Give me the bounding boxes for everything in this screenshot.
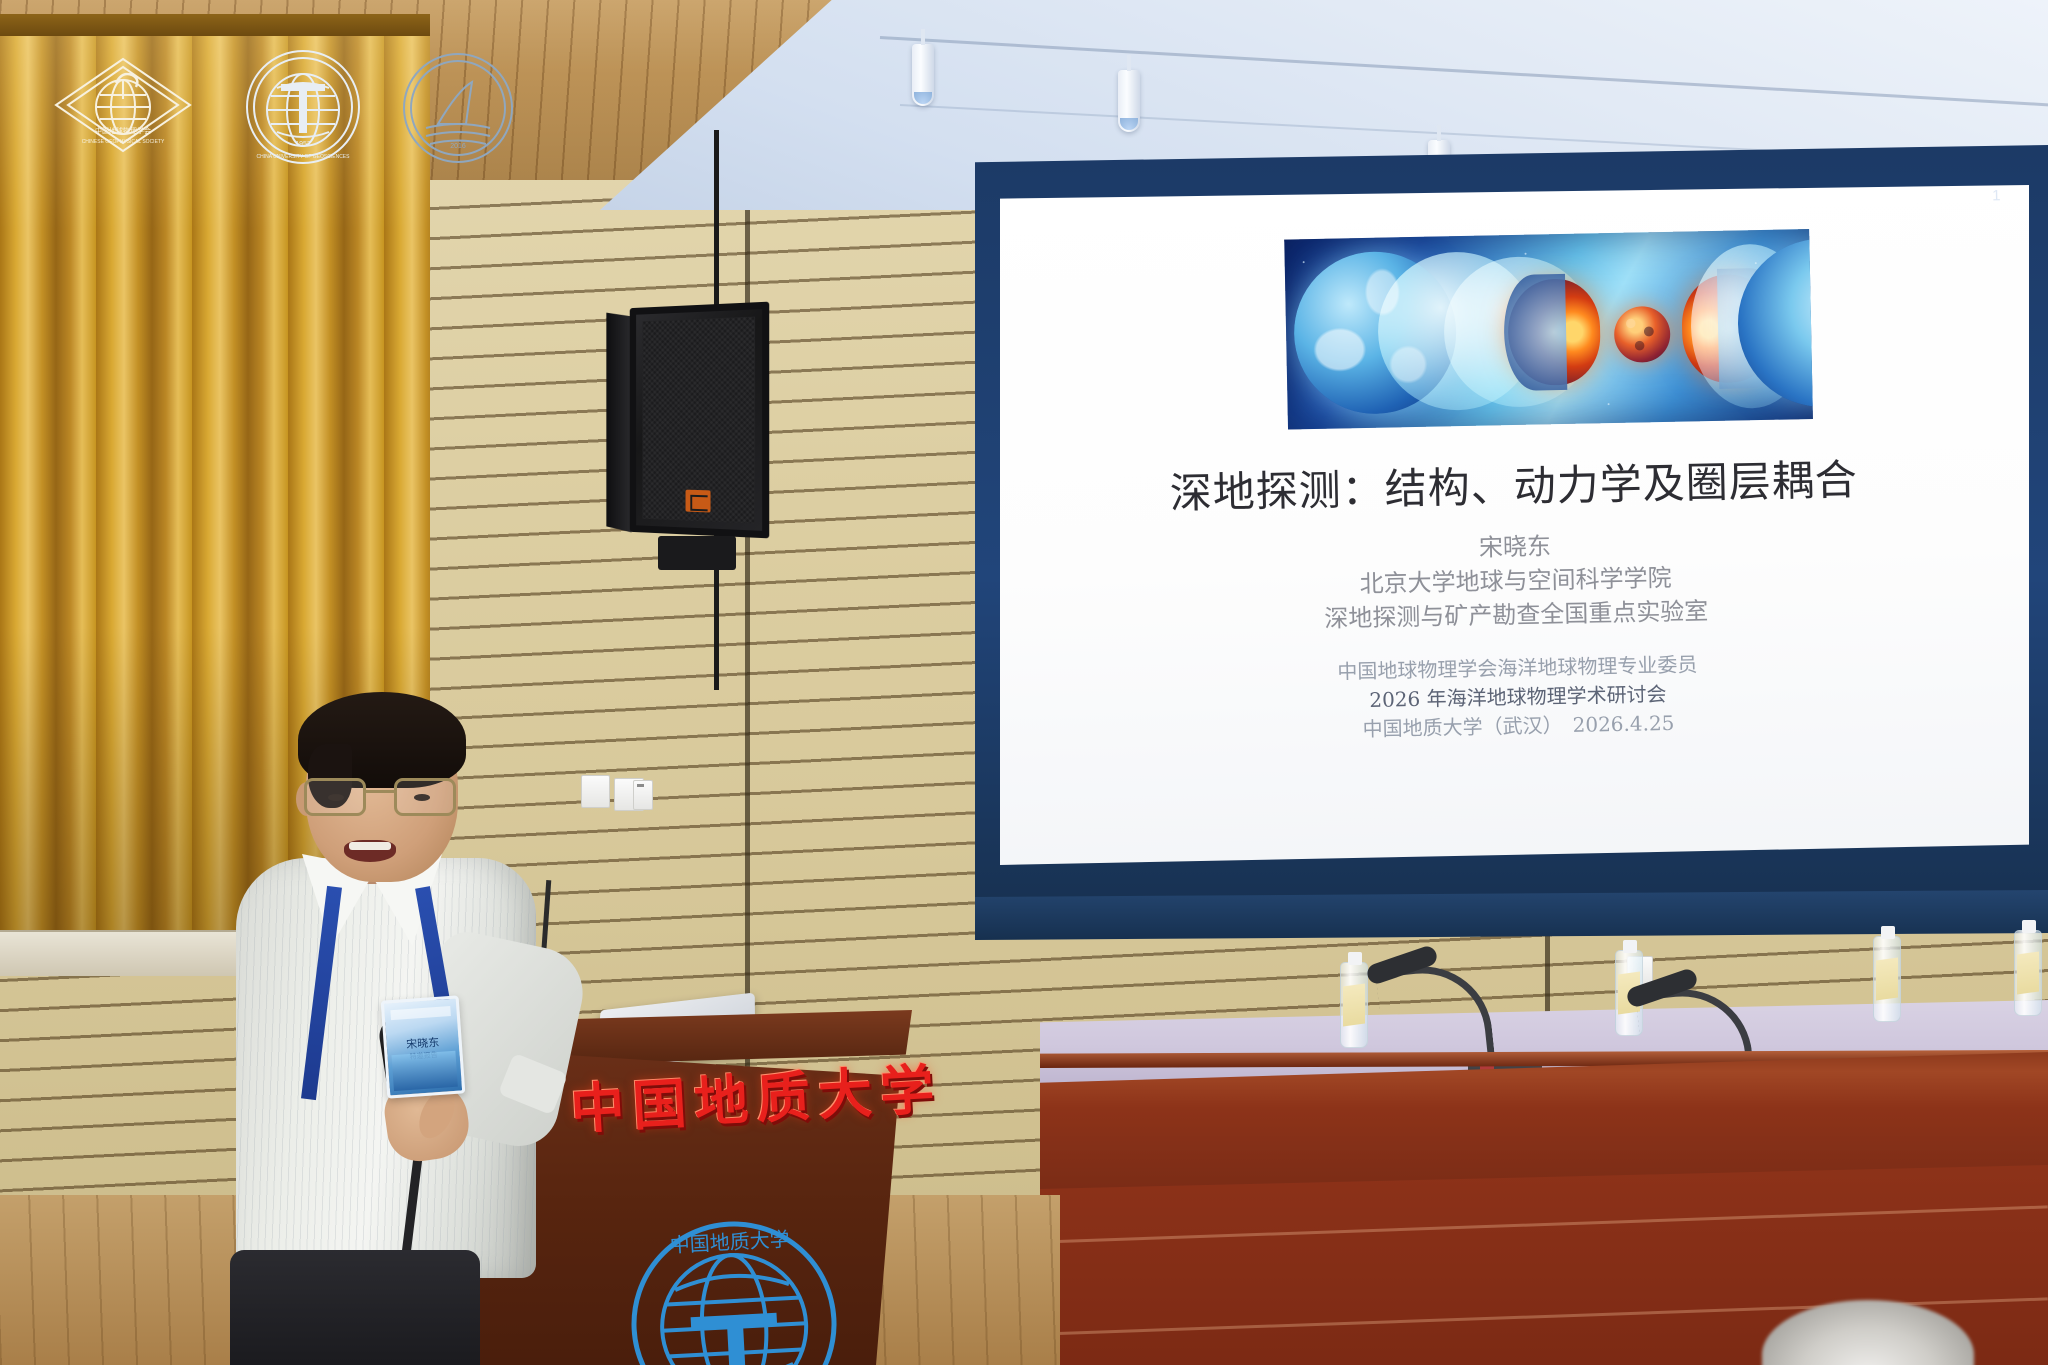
chinese-geophysical-society-logo: 中国地球物理学会 CHINESE GEOPHYSICAL SOCIETY: [50, 55, 196, 155]
cgs-logo-cn-text: 中国地球物理学会: [95, 126, 151, 135]
cug-logo-year: 1952: [295, 141, 311, 148]
glasses-bridge: [364, 790, 396, 793]
presenter-glasses: [302, 778, 462, 818]
curtain-rail: [0, 14, 430, 36]
cgs-logo-en-text: CHINESE GEOPHYSICAL SOCIETY: [82, 139, 165, 145]
presenter-mouth: [344, 840, 396, 862]
bottle-label: [2017, 951, 2039, 994]
bottle-label: [1876, 957, 1898, 1000]
podium-university-emblem: 中国地质大学 CHINA UNIVERSITY OF GEOSCIENCES: [619, 1209, 848, 1365]
loudspeaker-front: [630, 302, 769, 539]
loudspeaker-side-panel: [606, 313, 631, 533]
china-university-of-geosciences-logo: 1952 CHINA UNIVERSITY OF GEOSCIENCES: [243, 48, 363, 166]
glasses-lens-right: [394, 778, 456, 816]
earth-core-half-left: [1507, 278, 1601, 386]
slide-content: 1 深地探测：结构、动力学及圈层耦合 宋晓东 北京大学地球与空间科学学院 深地探…: [1000, 185, 2029, 865]
slide-page-indicator: 1: [1992, 187, 2003, 204]
loudspeaker-brand-badge: [685, 490, 710, 513]
water-bottle-4[interactable]: [2014, 930, 2042, 1016]
skirt-trim-line-1: [1040, 1205, 2047, 1243]
slide-title: 深地探测：结构、动力学及圈层耦合: [1000, 443, 2029, 525]
marine-logo-year: 2016: [450, 143, 466, 150]
slide-author-block: 宋晓东 北京大学地球与空间科学学院 深地探测与矿产勘查全国重点实验室: [1000, 520, 2029, 643]
track-light-2: [1118, 70, 1140, 132]
glasses-lens-left: [304, 778, 366, 816]
presentation-slide: 1 深地探测：结构、动力学及圈层耦合 宋晓东 北京大学地球与空间科学学院 深地探…: [1000, 185, 2029, 865]
loudspeaker-bracket: [658, 536, 736, 570]
marine-science-school-logo: 2016: [398, 52, 518, 164]
slide-conference-block: 中国地球物理学会海洋地球物理专业委员 2026 年海洋地球物理学术研讨会 中国地…: [1003, 644, 2029, 752]
wall-socket-panel[interactable]: [633, 780, 653, 810]
badge-artwork: [391, 1051, 457, 1091]
bottle-label: [1343, 983, 1365, 1026]
presenter-name-badge: 宋晓东 特邀报告: [381, 995, 466, 1098]
water-bottle-3[interactable]: [1873, 936, 1901, 1022]
track-light-stem: [921, 29, 925, 45]
lecture-hall-photo: 中国地球物理学会 CHINESE GEOPHYSICAL SOCIETY 195…: [0, 0, 2048, 1365]
cug-logo-en-text: CHINA UNIVERSITY OF GEOSCIENCES: [257, 154, 351, 160]
track-light-stem: [1437, 125, 1441, 141]
track-light-stem: [1127, 55, 1131, 71]
presenter-hair: [298, 692, 466, 788]
track-light-1: [912, 44, 934, 106]
podium-emblem-cn-text: 中国地质大学: [669, 1228, 790, 1257]
socket-contacts: [637, 784, 644, 787]
exploded-earth-figure: [1284, 229, 1813, 429]
water-bottle-1[interactable]: [1340, 962, 1368, 1048]
badge-header-strip: [390, 1006, 451, 1020]
presenter: 宋晓东 特邀报告: [236, 690, 596, 1365]
presenter-trousers: [230, 1250, 480, 1365]
wall-mounted-loudspeaker: [630, 302, 769, 539]
